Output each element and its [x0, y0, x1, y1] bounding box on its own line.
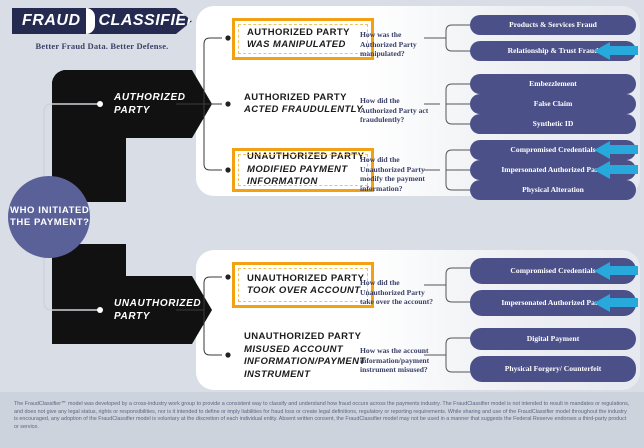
result-embezzlement[interactable]: Embezzlement — [470, 74, 636, 94]
logo-text-classifier: CLASSIFIER — [99, 12, 199, 30]
question-unauthorized-took-over-account: How did the Unauthorized Party take over… — [360, 278, 436, 307]
root-question-text: WHO INITIATED THE PAYMENT? — [8, 205, 90, 229]
outcome-box-unauthorized-modified-payment[interactable]: UNAUTHORIZED PARTY MODIFIED PAYMENT INFO… — [232, 148, 374, 192]
result-physical-alteration[interactable]: Physical Alteration — [470, 180, 636, 200]
outcome-line2: MODIFIED PAYMENT INFORMATION — [247, 164, 371, 189]
highlight-arrow-icon — [594, 161, 638, 179]
result-physical-forgery-counterfeit[interactable]: Physical Forgery/ Counterfeit — [470, 356, 636, 382]
outcome-line2: MISUSED ACCOUNT INFORMATION/PAYMENT INST… — [244, 344, 378, 382]
logo-banner: FRAUD CLASSIFIER — [12, 8, 202, 34]
footer-disclaimer-text: The FraudClassifier℠ model was developed… — [0, 392, 644, 431]
highlight-arrow-icon — [594, 141, 638, 159]
question-authorized-manipulated: How was the Authorized Party manipulated… — [360, 30, 434, 59]
footer-disclaimer: The FraudClassifier℠ model was developed… — [0, 392, 644, 448]
fraud-classifier-diagram: FRAUD CLASSIFIER Better Fraud Data. Bett… — [0, 0, 644, 448]
node-authorized-party[interactable]: AUTHORIZED PARTY — [52, 70, 212, 138]
outcome-line1: UNAUTHORIZED PARTY — [247, 273, 364, 286]
node-unauthorized-party-label: UNAUTHORIZED PARTY — [114, 297, 212, 323]
outcome-box-unauthorized-misused-account[interactable]: UNAUTHORIZED PARTY MISUSED ACCOUNT INFOR… — [232, 330, 378, 382]
brand-logo: FRAUD CLASSIFIER Better Fraud Data. Bett… — [12, 8, 202, 51]
outcome-line1: AUTHORIZED PARTY — [244, 92, 363, 105]
outcome-line1: UNAUTHORIZED PARTY — [247, 151, 371, 164]
logo-text-fraud: FRAUD — [22, 12, 81, 30]
outcome-box-text: AUTHORIZED PARTY WAS MANIPULATED — [235, 27, 350, 52]
highlight-arrow-icon — [594, 294, 638, 312]
node-authorized-party-label: AUTHORIZED PARTY — [114, 91, 212, 117]
outcome-line2: ACTED FRAUDULENTLY — [244, 104, 363, 117]
question-authorized-fraudulently: How did the Authorized Party act fraudul… — [360, 96, 434, 125]
brand-tagline: Better Fraud Data. Better Defense. — [12, 41, 192, 51]
node-unauthorized-party[interactable]: UNAUTHORIZED PARTY — [52, 276, 212, 344]
outcome-line1: UNAUTHORIZED PARTY — [244, 331, 378, 344]
outcome-box-text: AUTHORIZED PARTY ACTED FRAUDULENTLY — [232, 92, 363, 117]
outcome-box-authorized-fraudulently[interactable]: AUTHORIZED PARTY ACTED FRAUDULENTLY — [232, 86, 374, 122]
root-question-circle[interactable]: WHO INITIATED THE PAYMENT? — [8, 176, 90, 258]
result-products-services-fraud[interactable]: Products & Services Fraud — [470, 15, 636, 35]
outcome-box-unauthorized-took-over-account[interactable]: UNAUTHORIZED PARTY TOOK OVER ACCOUNT — [232, 262, 374, 308]
logo-divider-shape — [86, 8, 95, 34]
question-unauthorized-misused-account: How was the account information/payment … — [360, 346, 438, 375]
result-false-claim[interactable]: False Claim — [470, 94, 636, 114]
question-unauthorized-modified-payment: How did the Unauthorized Party modify th… — [360, 155, 436, 193]
outcome-box-text: UNAUTHORIZED PARTY MISUSED ACCOUNT INFOR… — [232, 331, 378, 381]
outcome-line2: WAS MANIPULATED — [247, 39, 350, 52]
outcome-line2: TOOK OVER ACCOUNT — [247, 285, 364, 298]
outcome-box-text: UNAUTHORIZED PARTY MODIFIED PAYMENT INFO… — [235, 151, 371, 189]
result-synthetic-id[interactable]: Synthetic ID — [470, 114, 636, 134]
highlight-arrow-icon — [594, 42, 638, 60]
outcome-line1: AUTHORIZED PARTY — [247, 27, 350, 40]
result-digital-payment[interactable]: Digital Payment — [470, 328, 636, 350]
outcome-box-authorized-manipulated[interactable]: AUTHORIZED PARTY WAS MANIPULATED — [232, 18, 374, 60]
highlight-arrow-icon — [594, 262, 638, 280]
outcome-box-text: UNAUTHORIZED PARTY TOOK OVER ACCOUNT — [235, 273, 364, 298]
